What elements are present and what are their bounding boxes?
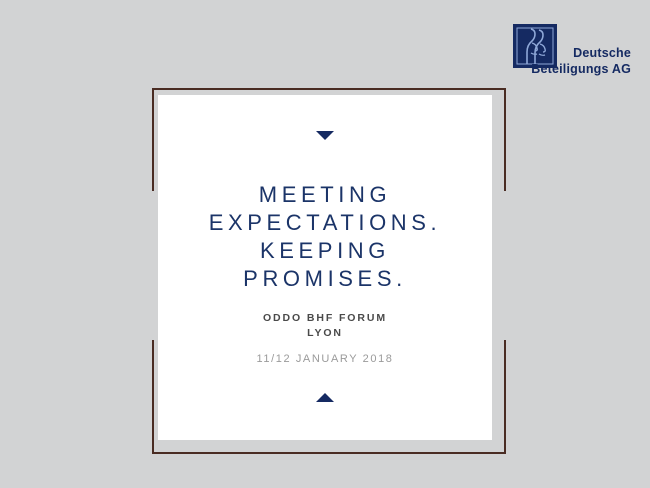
title-slide-card: MEETING EXPECTATIONS. KEEPING PROMISES. … <box>158 95 492 440</box>
slide-headline: MEETING EXPECTATIONS. KEEPING PROMISES. <box>158 181 492 293</box>
headline-line-3: KEEPING <box>158 237 492 265</box>
triangle-down-icon <box>316 131 334 140</box>
frame-segment-right-bottom <box>504 340 506 454</box>
frame-segment-right-top <box>504 88 506 191</box>
triangle-up-icon <box>316 393 334 402</box>
event-city: LYON <box>158 326 492 341</box>
event-name: ODDO BHF FORUM <box>158 311 492 326</box>
frame-segment-top <box>152 88 506 90</box>
company-logo: Deutsche Beteiligungs AG <box>513 24 631 80</box>
event-date: 11/12 JANUARY 2018 <box>158 353 492 365</box>
frame-segment-left-top <box>152 88 154 191</box>
frame-segment-bottom <box>152 452 506 454</box>
headline-line-4: PROMISES. <box>158 265 492 293</box>
event-info: ODDO BHF FORUM LYON <box>158 311 492 341</box>
logo-text-line-1: Deutsche <box>573 46 631 61</box>
logo-wordmark: Deutsche Beteiligungs AG <box>513 24 631 80</box>
frame-segment-left-bottom <box>152 340 154 454</box>
headline-line-1: MEETING <box>158 181 492 209</box>
logo-text-line-2: Beteiligungs AG <box>531 62 631 77</box>
headline-line-2: EXPECTATIONS. <box>158 209 492 237</box>
